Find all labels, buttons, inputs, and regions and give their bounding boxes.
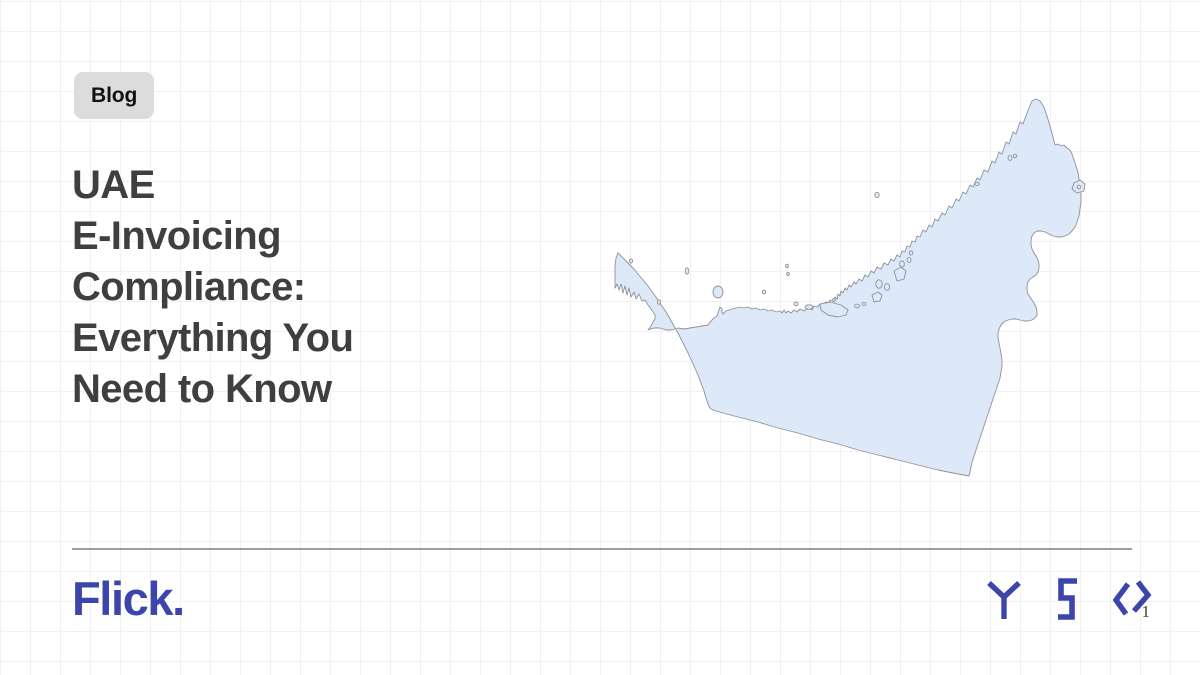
headline-line-5: Need to Know bbox=[72, 364, 502, 415]
brand-logo[interactable]: Flick. bbox=[72, 575, 184, 622]
island-west-small-6 bbox=[787, 272, 790, 275]
uae-map-paths bbox=[615, 99, 1085, 476]
island-north-2 bbox=[1008, 156, 1012, 161]
island-west-small-5 bbox=[786, 264, 789, 268]
page-title: UAE E-Invoicing Compliance: Everything Y… bbox=[72, 160, 502, 415]
headline-line-3: Compliance: bbox=[72, 262, 502, 313]
trident-rune-icon bbox=[984, 578, 1024, 620]
enclave-east-dot bbox=[1077, 185, 1081, 189]
island-coast-6 bbox=[907, 258, 911, 263]
island-coast-3 bbox=[884, 284, 889, 291]
footer-icon-group bbox=[984, 578, 1152, 620]
blog-badge[interactable]: Blog bbox=[74, 72, 154, 119]
headline-line-2: E-Invoicing bbox=[72, 211, 502, 262]
island-west-small-2 bbox=[657, 300, 660, 304]
island-coast-2 bbox=[876, 280, 882, 288]
island-mid-small-4 bbox=[875, 192, 879, 197]
island-west-large bbox=[713, 286, 723, 298]
island-mid-small-1 bbox=[794, 302, 798, 306]
island-ad-small-2 bbox=[862, 302, 866, 305]
island-coast-5 bbox=[900, 261, 905, 267]
uae-map-illustration bbox=[598, 88, 1098, 488]
island-ad-small-1 bbox=[854, 304, 859, 308]
uae-map-svg bbox=[598, 88, 1098, 488]
page-number: 1 bbox=[1142, 603, 1151, 620]
footer-divider bbox=[72, 548, 1132, 550]
lightning-bolt-icon bbox=[1048, 578, 1088, 620]
island-mid-small-3 bbox=[833, 298, 836, 301]
headline-line-4: Everything You bbox=[72, 313, 502, 364]
island-west-small-4 bbox=[762, 290, 765, 294]
island-coast-7 bbox=[909, 251, 913, 255]
blog-badge-label: Blog bbox=[91, 85, 137, 106]
slide-canvas: Blog UAE E-Invoicing Compliance: Everyth… bbox=[0, 0, 1200, 675]
island-north-1 bbox=[975, 182, 979, 185]
island-mid-small-2 bbox=[805, 305, 813, 309]
island-north-3 bbox=[1013, 154, 1016, 158]
island-west-small-3 bbox=[685, 268, 689, 274]
island-west-small-1 bbox=[629, 259, 632, 263]
headline-line-1: UAE bbox=[72, 160, 502, 211]
